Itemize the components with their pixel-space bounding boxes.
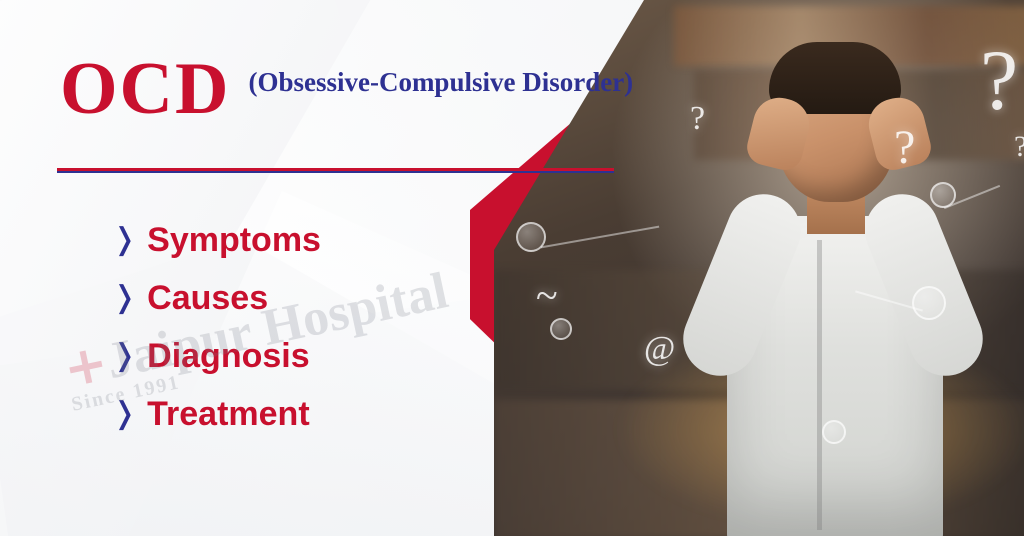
bubble-icon: [822, 420, 846, 444]
list-item[interactable]: ❭ Causes: [112, 280, 321, 316]
title-abbreviation: OCD: [60, 52, 230, 126]
shirt-crease: [817, 240, 822, 530]
question-mark-icon: ?: [1014, 130, 1024, 164]
topic-list: ❭ Symptoms ❭ Causes ❭ Diagnosis ❭ Treatm…: [112, 222, 321, 432]
chevron-right-icon: ❭: [112, 283, 137, 313]
bubble-icon: [912, 286, 946, 320]
divider-blue: [57, 171, 614, 173]
chevron-right-icon: ❭: [112, 399, 137, 429]
bubble-icon: [550, 318, 572, 340]
chevron-right-icon: ❭: [112, 341, 137, 371]
question-mark-icon: ?: [894, 120, 915, 175]
headline: OCD (Obsessive-Compulsive Disorder): [60, 52, 633, 126]
list-item-label: Symptoms: [147, 222, 321, 258]
chevron-right-icon: ❭: [112, 225, 137, 255]
question-mark-icon: ?: [690, 100, 705, 138]
ocd-info-banner: ? ? ? ? ~ @ Jaipur Hospital Since 1991 O…: [0, 0, 1024, 536]
list-item[interactable]: ❭ Symptoms: [112, 222, 321, 258]
list-item-label: Diagnosis: [147, 338, 309, 374]
question-mark-icon: ?: [980, 30, 1018, 130]
at-sign-icon: @: [644, 330, 675, 368]
list-item-label: Treatment: [147, 396, 310, 432]
tilde-icon: ~: [536, 272, 558, 319]
list-item-label: Causes: [147, 280, 268, 316]
title-full-name: (Obsessive-Compulsive Disorder): [248, 52, 633, 100]
list-item[interactable]: ❭ Treatment: [112, 396, 321, 432]
list-item[interactable]: ❭ Diagnosis: [112, 338, 321, 374]
connector-line: [541, 226, 660, 249]
